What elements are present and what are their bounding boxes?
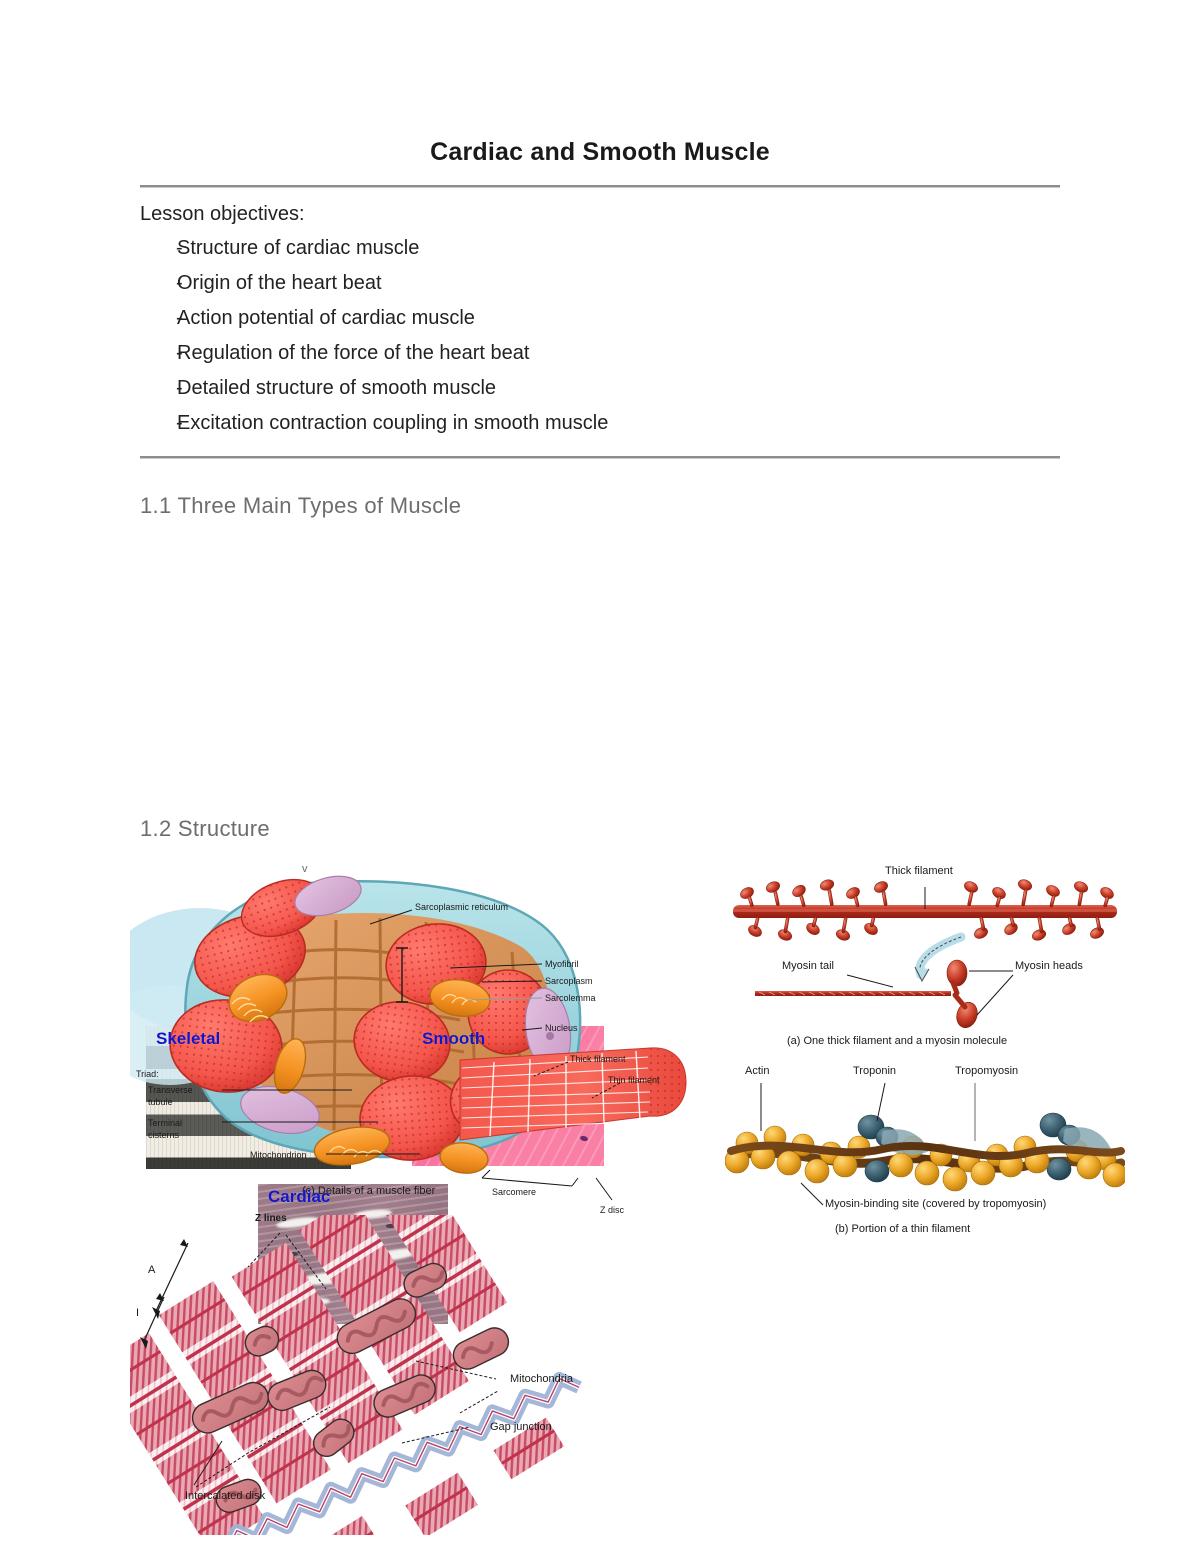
- label-sarcoplasm: Sarcoplasm: [545, 976, 593, 986]
- bullet-dash: -: [140, 378, 177, 399]
- document-page: Cardiac and Smooth Muscle Lesson objecti…: [0, 0, 1200, 1553]
- section-heading-1-1: 1.1 Three Main Types of Muscle: [140, 459, 1060, 519]
- figure-thick-filament: Thick filament Myosin tail Myosin heads …: [725, 865, 1125, 1060]
- histology-gallery: Skeletal Smooth: [0, 519, 1200, 837]
- label-thick-filament-a: Thick filament: [885, 865, 953, 877]
- list-item: - Action potential of cardiac muscle: [140, 308, 1060, 329]
- bullet-dash: -: [140, 238, 177, 259]
- objective-text: Detailed structure of smooth muscle: [177, 378, 496, 399]
- bullet-dash: -: [140, 413, 177, 434]
- label-terminal-cisterns: Terminal: [148, 1118, 182, 1128]
- list-item: - Regulation of the force of the heart b…: [140, 343, 1060, 364]
- label-actin: Actin: [745, 1065, 769, 1077]
- label-troponin: Troponin: [853, 1065, 896, 1077]
- label-thick-filament-c: Thick filament: [570, 1054, 626, 1064]
- figures-area: Sarcoplasmic reticulum Myofibril Sarcopl…: [0, 860, 1200, 1550]
- section-heading-1-2: 1.2 Structure: [140, 816, 1060, 842]
- objective-text: Origin of the heart beat: [177, 273, 382, 294]
- label-gap-junction: Gap junction: [490, 1421, 552, 1433]
- objective-text: Excitation contraction coupling in smoot…: [177, 413, 608, 434]
- label-thin-filament-c: Thin filament: [608, 1075, 660, 1085]
- label-myosin-heads: Myosin heads: [1015, 960, 1083, 972]
- label-transverse-tubule-2: tubule: [148, 1097, 173, 1107]
- label-z-lines: Z lines: [255, 1213, 287, 1224]
- label-z-disc: Z disc: [600, 1205, 624, 1215]
- label-band-a: A: [148, 1264, 155, 1276]
- objectives-list: - Structure of cardiac muscle - Origin o…: [140, 238, 1060, 434]
- label-myofibril: Myofibril: [545, 959, 579, 969]
- label-sarcoplasmic-reticulum: Sarcoplasmic reticulum: [415, 902, 508, 912]
- figure-a-caption: (a) One thick filament and a myosin mole…: [787, 1035, 1007, 1047]
- figure-cardiac-ultrastructure: Z lines A I Mitochondria Gap junction In…: [130, 1215, 600, 1535]
- list-item: - Origin of the heart beat: [140, 273, 1060, 294]
- label-sarcomere: Sarcomere: [492, 1187, 536, 1197]
- lesson-objectives: Lesson objectives: - Structure of cardia…: [140, 188, 1060, 434]
- objective-text: Regulation of the force of the heart bea…: [177, 343, 529, 364]
- list-item: - Excitation contraction coupling in smo…: [140, 413, 1060, 434]
- figure-b-caption: (b) Portion of a thin filament: [835, 1223, 970, 1235]
- bullet-dash: -: [140, 343, 177, 364]
- label-band-i: I: [136, 1307, 139, 1319]
- label-nucleus: Nucleus: [545, 1023, 578, 1033]
- label-transverse-tubule: Transverse: [148, 1085, 193, 1095]
- label-sarcolemma: Sarcolemma: [545, 993, 596, 1003]
- label-myosin-tail: Myosin tail: [782, 960, 834, 972]
- objectives-heading: Lesson objectives:: [140, 204, 1060, 224]
- bullet-dash: -: [140, 308, 177, 329]
- list-item: - Detailed structure of smooth muscle: [140, 378, 1060, 399]
- label-myosin-binding-site: Myosin-binding site (covered by tropomyo…: [825, 1198, 1046, 1210]
- label-mitochondria: Mitochondria: [510, 1373, 573, 1385]
- list-item: - Structure of cardiac muscle: [140, 238, 1060, 259]
- page-title: Cardiac and Smooth Muscle: [0, 0, 1200, 167]
- label-terminal-cisterns-2: cisterns: [148, 1130, 179, 1140]
- cardiac-label: Cardiac: [268, 1187, 330, 1207]
- thin-filament-illustration: [725, 1065, 1125, 1240]
- objective-text: Structure of cardiac muscle: [177, 238, 419, 259]
- label-mitochondrion: Mitochondrion: [250, 1150, 307, 1160]
- label-tropomyosin: Tropomyosin: [955, 1065, 1018, 1077]
- skeletal-label: Skeletal: [156, 1029, 220, 1049]
- smooth-label: Smooth: [422, 1029, 485, 1049]
- label-intercalated-disk: Intercalated disk: [185, 1490, 265, 1502]
- label-triad: Triad:: [136, 1069, 159, 1079]
- bullet-dash: -: [140, 273, 177, 294]
- objective-text: Action potential of cardiac muscle: [177, 308, 475, 329]
- figure-thin-filament: Actin Troponin Tropomyosin Myosin-bindin…: [725, 1065, 1125, 1240]
